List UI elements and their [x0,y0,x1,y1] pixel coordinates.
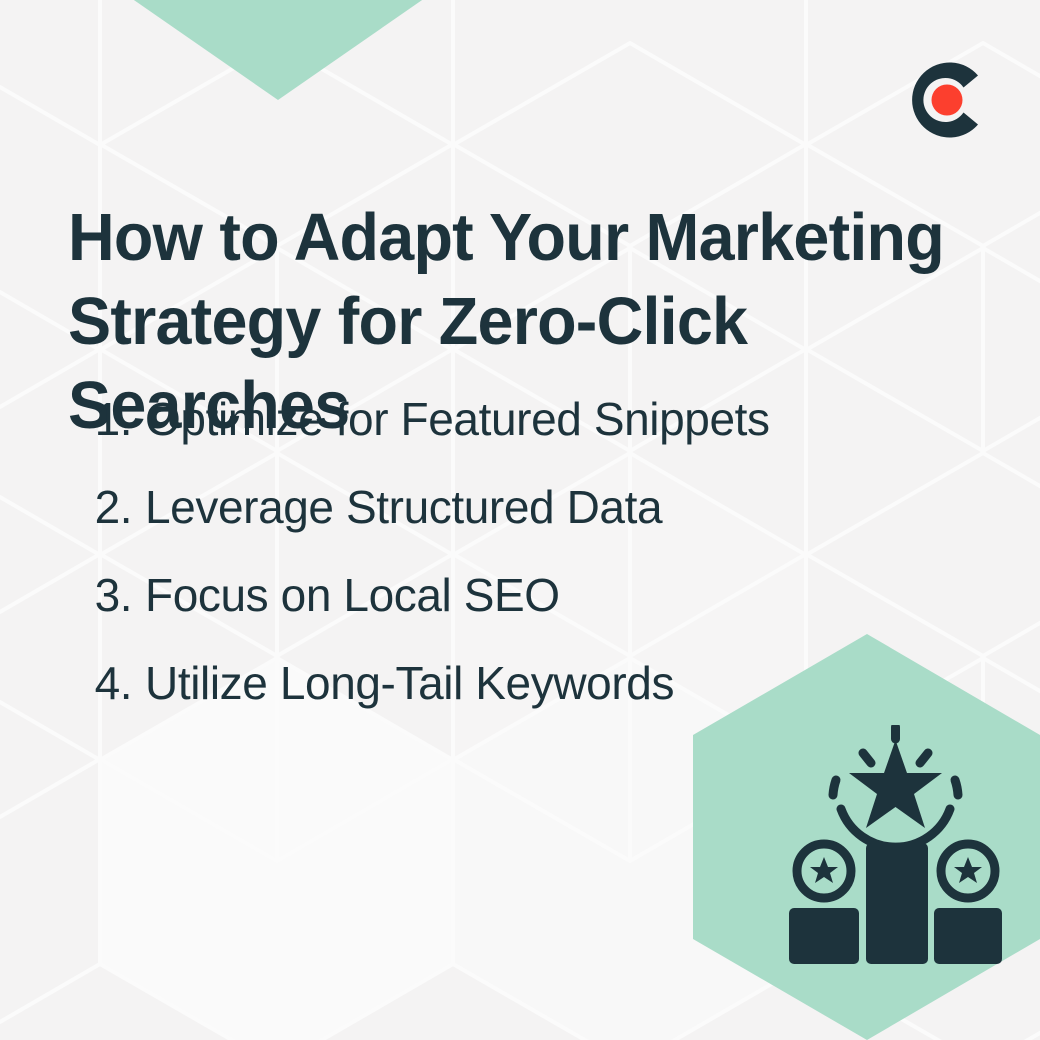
list-item-number: 2. [72,484,132,530]
list-item: 2. Leverage Structured Data [72,484,892,572]
list-item-label: Leverage Structured Data [145,484,662,530]
list-item-label: Utilize Long-Tail Keywords [145,660,674,706]
list-item-label: Focus on Local SEO [145,572,560,618]
medal-left-star-icon [810,857,838,883]
letter-c-logo-icon [901,55,991,145]
list-item-label: Optimize for Featured Snippets [145,396,770,442]
list-item-number: 1. [72,396,132,442]
list-item-number: 4. [72,660,132,706]
winners-podium-icon [788,725,1003,965]
logo-dot-shape [932,85,963,116]
podium-bar-second [789,908,859,964]
hexagon-shape-top [131,0,425,100]
social-card: How to Adapt Your Marketing Strategy for… [0,0,1040,1040]
medal-right-star-icon [954,857,982,883]
podium-bar-third [934,908,1002,964]
podium-bar-first [866,843,928,964]
list-item: 1. Optimize for Featured Snippets [72,396,892,484]
list-item-number: 3. [72,572,132,618]
